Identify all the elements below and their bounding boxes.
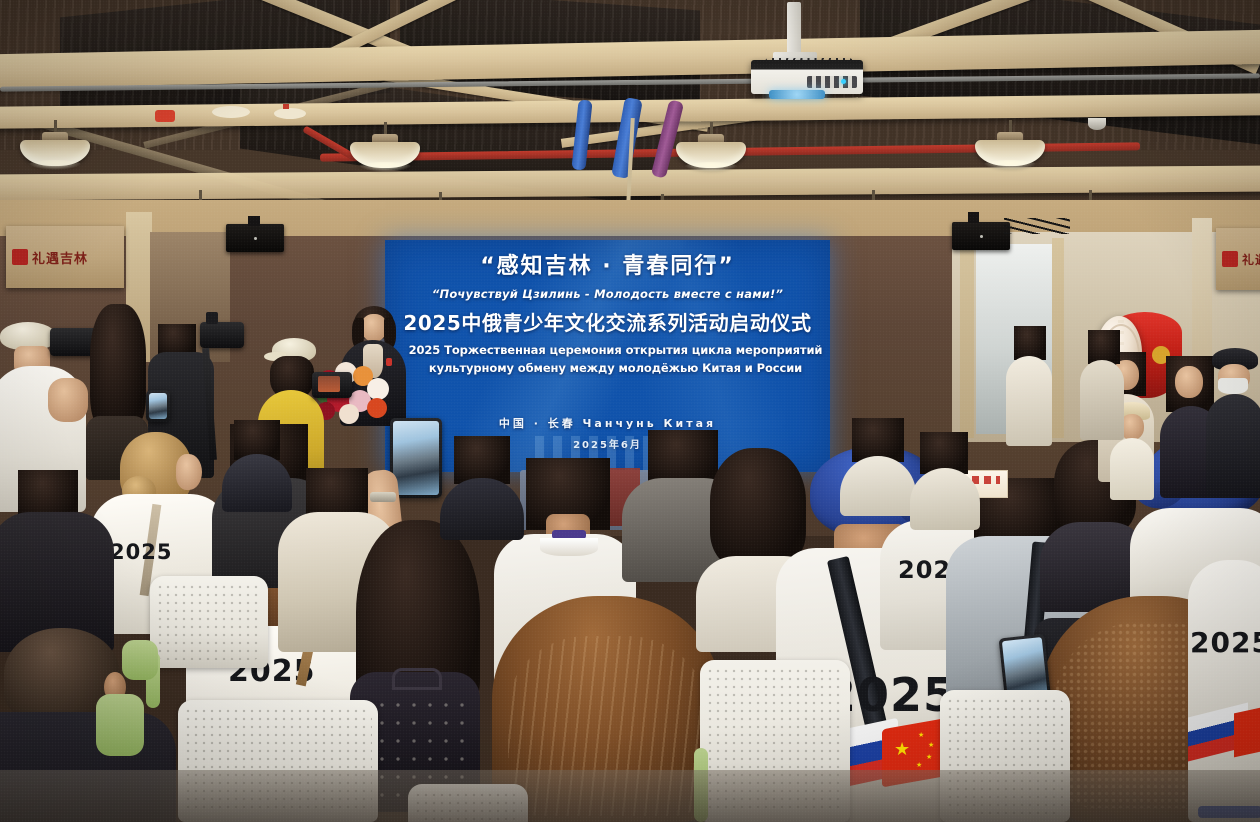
screen-subtitle-ru-line1: 2025 Торжественная церемония открытия ци…: [385, 344, 830, 358]
ceiling-alarm: [283, 104, 289, 109]
audience-back-row-2: [440, 436, 524, 536]
press-hair: [90, 304, 146, 432]
tshirt-2025-print: 2025: [110, 540, 172, 564]
right-man-mask: [1208, 348, 1260, 498]
flag-star-large: ★: [894, 740, 910, 758]
press-phone: [146, 390, 170, 422]
pendant-lamp: [20, 120, 90, 172]
pendant-lamp: [350, 122, 420, 174]
banner-seal-icon: [12, 249, 28, 265]
bouquet-flower: [339, 404, 359, 424]
bouquet-flower: [367, 398, 387, 418]
speaker-mount-left: [248, 216, 260, 226]
tshirt-2025-print: 2025: [1190, 626, 1260, 659]
flag-star-small: ★: [916, 762, 922, 769]
flag-star-small: ★: [928, 742, 934, 749]
screen-headline-ru: “Почувствуй Цзилинь - Молодость вместе с…: [385, 288, 830, 302]
audience-man-left-dark: [0, 470, 110, 650]
banner-seal-icon: [1222, 251, 1238, 267]
ceiling-structure: [0, 0, 1260, 232]
top-light: [1080, 360, 1124, 440]
hair: [1088, 330, 1120, 364]
screen-subtitle-cn: 2025中俄青少年文化交流系列活动启动仪式: [385, 312, 830, 336]
ceiling-vent: [274, 108, 306, 119]
banner-left-text: 礼遇吉林: [32, 248, 88, 267]
video-camera-right: [200, 322, 244, 348]
audience-back-row-3: [840, 418, 916, 514]
wall-speaker-left: [226, 224, 284, 252]
hair: [1014, 326, 1046, 360]
face: [1175, 366, 1203, 398]
face-mask: [1218, 378, 1248, 394]
pendant-lamp: [676, 122, 746, 174]
projector-lens: [769, 90, 825, 99]
audience-chair: [150, 576, 268, 668]
door-frame: [1052, 238, 1064, 438]
suit-dark: [222, 454, 292, 512]
door-frame: [960, 238, 974, 438]
phone-screen: [149, 393, 167, 419]
child-outfit: [1110, 438, 1154, 500]
backpack-handle: [392, 668, 442, 690]
event-photograph: 礼遇吉林 礼遇吉林 “感知吉林 · 青春同行” “Почувствуй Цзил…: [0, 0, 1260, 822]
audience-back-row-4: [910, 432, 980, 528]
chair-frame-green: [96, 694, 144, 756]
wall-banner-right: 礼遇吉林: [1216, 228, 1260, 290]
flag-star-small: ★: [918, 732, 924, 739]
camera-viewfinder: [318, 376, 340, 392]
collar: [540, 538, 598, 556]
phone-screen: [393, 421, 439, 495]
pendant-lamp: [975, 120, 1045, 172]
audience-back-row-left: [222, 420, 292, 510]
shirt-white: [840, 456, 916, 516]
speaker-mount-right: [968, 212, 979, 223]
background-person-doorway-2: [1006, 326, 1052, 446]
shirt-white: [910, 468, 980, 530]
speaker-cables-right: [1004, 218, 1070, 234]
red-duct-cap: [155, 110, 175, 122]
security-camera: [1088, 118, 1106, 130]
shirt-dark: [1206, 394, 1260, 498]
screen-decor-dot: [707, 256, 715, 264]
banner-right-text: 礼遇吉林: [1242, 251, 1260, 268]
projector-status-led: [841, 79, 846, 84]
hair: [454, 436, 510, 484]
top-white: [1006, 356, 1052, 446]
photographer-arm: [48, 378, 88, 422]
screen-location: 中国 · 长春 Чанчунь Китая: [385, 418, 830, 431]
flag-star-small: ★: [926, 754, 932, 761]
projector-ports: [807, 76, 857, 88]
screen-headline-cn: “感知吉林 · 青春同行”: [385, 254, 830, 280]
blonde-face-profile: [176, 454, 202, 490]
projector-assembly: [745, 2, 875, 118]
wall-banner-left: 礼遇吉林: [6, 226, 124, 288]
screen-subtitle-ru-line2: культурному обмену между молодёжью Китая…: [385, 362, 830, 376]
background-person-doorway-1: [1080, 330, 1124, 440]
projector-pole: [787, 2, 801, 58]
wall-speaker-right: [952, 222, 1010, 250]
chair-mesh: [156, 583, 262, 660]
camera-top-handle: [206, 312, 218, 324]
chair-frame-green: [122, 640, 158, 680]
ceiling-vent: [212, 106, 250, 118]
floor: [0, 770, 1260, 822]
top-dark: [440, 478, 524, 540]
